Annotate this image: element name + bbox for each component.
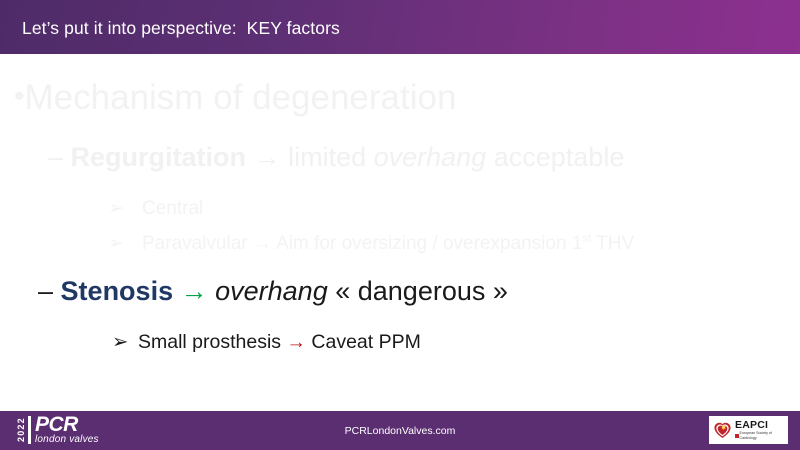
paravalvular-label: Paravalvular [142,233,248,254]
arrow-icon-green: → [181,276,208,306]
slide-content: •Mechanism of degeneration – Regurgitati… [0,54,800,411]
paravalvular-tail-text: Aim for oversizing / overexpansion 1 [276,233,582,254]
arrow-bullet-icon: ➢ [112,330,138,354]
bullet-paravalvular: ➢Paravalvular → Aim for oversizing / ove… [108,232,634,255]
regurgitation-label: Regurgitation [71,142,247,172]
stenosis-label: Stenosis [61,276,174,306]
bullet-central: ➢Central [108,197,203,220]
caveat-ppm-label: Caveat PPM [311,331,420,353]
bullet-small-prosthesis: ➢Small prosthesis → Caveat PPM [112,330,421,354]
page-title: Let’s put it into perspective: KEY facto… [22,18,340,39]
central-label: Central [142,198,203,219]
regurgitation-mid-text: limited [288,142,366,172]
slide: Let’s put it into perspective: KEY facto… [0,0,800,450]
paravalvular-end-text: THV [591,233,634,254]
ordinal-suffix: st [582,233,591,245]
arrow-icon: → [254,142,281,172]
eapci-name: EAPCI [735,420,784,431]
regurgitation-tail-text: acceptable [494,142,625,172]
esc-square-icon [735,434,739,438]
eapci-text: EAPCI European Society of Cardiology [735,420,784,440]
eapci-logo: EAPCI European Society of Cardiology [709,416,788,444]
dash-marker: – [48,142,63,172]
stenosis-quote-text: « dangerous » [335,276,508,306]
bullet-level1-label: Mechanism of degeneration [25,78,457,117]
arrow-bullet-icon: ➢ [108,232,142,255]
bullet-stenosis: – Stenosis → overhang « dangerous » [38,276,508,307]
footer-website-url: PCRLondonValves.com [0,425,800,437]
bullet-regurgitation: – Regurgitation → limited overhang accep… [48,142,624,173]
eapci-society-label: European Society of Cardiology [740,431,784,440]
arrow-bullet-icon: ➢ [108,197,142,220]
regurgitation-italic-term: overhang [374,142,487,172]
small-prosthesis-label: Small prosthesis [138,331,281,353]
stenosis-italic-term: overhang [215,276,328,306]
arrow-icon-red: → [286,331,306,353]
dot-bullet-icon: • [14,80,25,113]
bullet-mechanism-of-degeneration: •Mechanism of degeneration [14,78,456,118]
eapci-society-line: European Society of Cardiology [735,431,784,440]
heart-icon [713,421,732,440]
arrow-icon: → [253,233,272,254]
dash-marker: – [38,276,53,306]
